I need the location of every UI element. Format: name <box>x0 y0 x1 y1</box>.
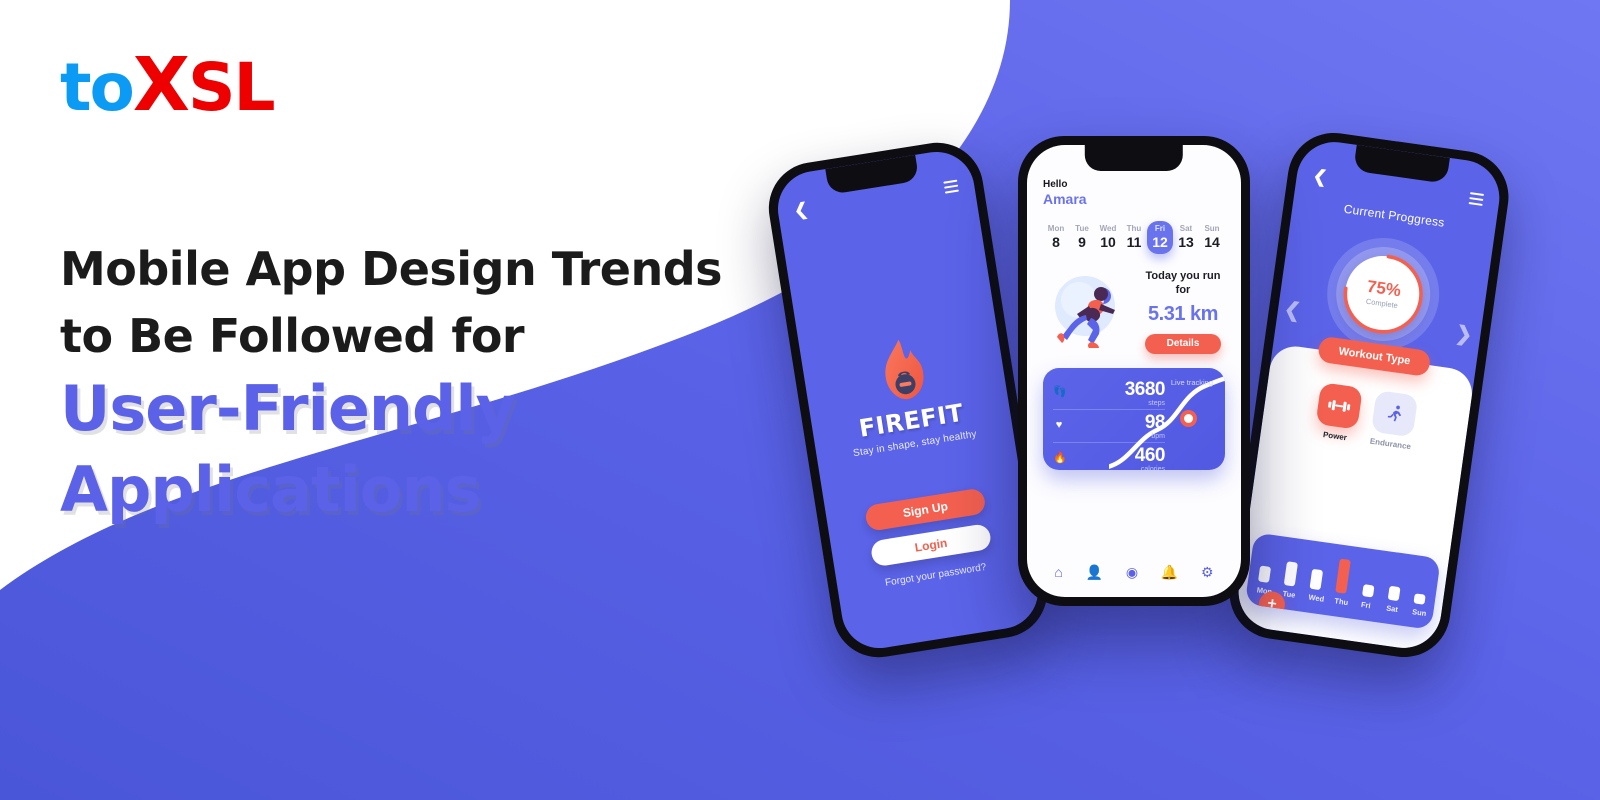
stat-unit: calories <box>1071 466 1165 470</box>
week-day-number: 8 <box>1043 234 1069 250</box>
progress-screen: ❮ Current Proggress ❮ ❯ 75% Complete <box>1234 137 1504 653</box>
week-day-fri[interactable]: Fri12 <box>1147 221 1173 254</box>
week-day-name: Wed <box>1095 224 1121 233</box>
timer-icon[interactable]: ◉ <box>1126 565 1138 579</box>
bell-icon[interactable]: 🔔 <box>1161 565 1178 579</box>
week-day-name: Tue <box>1069 224 1095 233</box>
headline-line-3: User-Friendly <box>60 369 740 450</box>
login-button[interactable]: Login <box>870 523 993 567</box>
chart-bar <box>1362 584 1375 597</box>
logo-text-to: to <box>60 49 133 126</box>
phone-left-screen: ❮ <box>773 146 1044 653</box>
heart-icon: ♥ <box>1053 419 1065 431</box>
workout-sheet: Workout Type <box>1234 343 1476 653</box>
stat-unit: bpm <box>1071 433 1165 440</box>
dumbbell-icon <box>1327 398 1350 413</box>
chevron-left-icon[interactable]: ❮ <box>793 200 810 219</box>
user-name: Amara <box>1043 191 1225 207</box>
firefit-branding: FIREFIT Stay in shape, stay healthy <box>800 322 1013 465</box>
stat-row: ♥98bpm <box>1053 410 1165 443</box>
logo-text-sl: SL <box>188 49 274 126</box>
auth-actions: Sign Up Login Forgot your password? <box>826 481 1035 596</box>
endurance-tile[interactable] <box>1371 390 1418 437</box>
power-label: Power <box>1322 430 1347 442</box>
stat-unit: steps <box>1071 400 1165 407</box>
stat-row: 👣3680steps <box>1053 377 1165 410</box>
week-day-name: Sat <box>1173 224 1199 233</box>
route-marker <box>1180 410 1197 427</box>
flame-kettlebell-icon <box>869 333 939 408</box>
chart-x-label: Sat <box>1386 604 1398 614</box>
details-button[interactable]: Details <box>1145 334 1221 354</box>
stats-card: Live tracking 👣3680steps♥98bpm🔥460calori… <box>1043 368 1225 470</box>
stat-value: 460 <box>1135 445 1165 466</box>
week-day-number: 9 <box>1069 234 1095 250</box>
week-day-name: Sun <box>1199 224 1225 233</box>
chart-x-label: Tue <box>1282 589 1294 599</box>
chart-bar <box>1310 569 1324 590</box>
week-day-thu[interactable]: Thu11 <box>1121 221 1147 254</box>
stat-rows: 👣3680steps♥98bpm🔥460calories <box>1053 377 1165 470</box>
phone-right-progress: ❮ Current Proggress ❮ ❯ 75% Complete <box>1224 127 1515 663</box>
chart-x-label: Fri <box>1360 600 1372 610</box>
chart-bar <box>1258 566 1271 583</box>
phone-center-dashboard: Hello Amara Mon8Tue9Wed10Thu11Fri12Sat13… <box>1018 136 1250 606</box>
ring-arc <box>1332 243 1434 345</box>
week-day-name: Thu <box>1121 224 1147 233</box>
poster-canvas: toXSL Mobile App Design Trends to Be Fol… <box>0 0 1600 800</box>
chart-x-label: Thu <box>1334 596 1346 606</box>
chevron-left-icon[interactable]: ❮ <box>1312 167 1328 186</box>
headline-block: Mobile App Design Trends to Be Followed … <box>60 236 740 531</box>
run-info: Today you run for 5.31 km Details <box>1139 270 1225 354</box>
flame-icon: 🔥 <box>1053 451 1065 464</box>
workout-type-endurance[interactable]: Endurance <box>1369 390 1418 451</box>
hamburger-icon[interactable] <box>1469 192 1485 206</box>
runner-illustration <box>1043 266 1139 358</box>
week-day-wed[interactable]: Wed10 <box>1095 221 1121 254</box>
week-day-name: Mon <box>1043 224 1069 233</box>
bottom-nav[interactable]: ⌂👤◉🔔⚙ <box>1027 565 1241 579</box>
week-day-name: Fri <box>1147 224 1173 233</box>
logo-text-x: X <box>133 42 188 128</box>
week-day-number: 10 <box>1095 234 1121 250</box>
stat-value: 3680 <box>1125 379 1165 400</box>
week-day-mon[interactable]: Mon8 <box>1043 221 1069 254</box>
workout-type-power[interactable]: Power <box>1314 382 1363 443</box>
week-day-number: 11 <box>1121 234 1147 250</box>
phone-right-screen: ❮ Current Proggress ❮ ❯ 75% Complete <box>1234 137 1504 653</box>
run-title: Today you run for <box>1141 270 1225 298</box>
chart-bar <box>1387 586 1400 601</box>
chart-bar <box>1284 561 1298 586</box>
headline-line-4: Applications <box>60 450 740 531</box>
week-day-number: 14 <box>1199 234 1225 250</box>
run-summary: Today you run for 5.31 km Details <box>1043 266 1225 358</box>
logo-toxsl[interactable]: toXSL <box>60 48 274 122</box>
week-day-tue[interactable]: Tue9 <box>1069 221 1095 254</box>
endurance-label: Endurance <box>1369 437 1411 452</box>
week-selector[interactable]: Mon8Tue9Wed10Thu11Fri12Sat13Sun14 <box>1043 221 1225 254</box>
week-day-number: 13 <box>1173 234 1199 250</box>
phone-left-firefit: ❮ <box>762 136 1054 664</box>
phone-center-screen: Hello Amara Mon8Tue9Wed10Thu11Fri12Sat13… <box>1027 145 1241 597</box>
week-day-sat[interactable]: Sat13 <box>1173 221 1199 254</box>
greeting-label: Hello <box>1043 179 1225 190</box>
stat-value: 98 <box>1145 412 1165 433</box>
chart-x-label: Wed <box>1308 593 1320 603</box>
forgot-password-link[interactable]: Forgot your password? <box>884 562 987 589</box>
run-distance: 5.31 km <box>1141 303 1225 326</box>
dashboard: Hello Amara Mon8Tue9Wed10Thu11Fri12Sat13… <box>1027 145 1241 597</box>
stat-row: 🔥460calories <box>1053 443 1165 470</box>
home-icon[interactable]: ⌂ <box>1054 565 1062 579</box>
chart-bar <box>1413 593 1425 604</box>
prev-arrow-icon[interactable]: ❮ <box>1282 296 1302 323</box>
chart-x-label: Sun <box>1412 607 1424 617</box>
hamburger-icon[interactable] <box>943 179 959 193</box>
chart-bar <box>1336 559 1352 594</box>
footsteps-icon: 👣 <box>1053 385 1065 398</box>
weekly-chart-card: MonTueWedThuFriSatSun + <box>1245 532 1441 629</box>
notch <box>1085 145 1183 171</box>
live-tracking-label: Live tracking <box>1171 378 1213 387</box>
gear-icon[interactable]: ⚙ <box>1201 565 1214 579</box>
headline-line-1: Mobile App Design Trends <box>60 236 740 303</box>
profile-icon[interactable]: 👤 <box>1086 565 1103 579</box>
week-day-sun[interactable]: Sun14 <box>1199 221 1225 254</box>
week-day-number: 12 <box>1147 234 1173 250</box>
power-tile[interactable] <box>1315 382 1362 429</box>
headline-line-2: to Be Followed for <box>60 303 740 370</box>
running-icon <box>1383 402 1406 425</box>
workout-type-grid: Power Endurance <box>1261 375 1471 459</box>
next-arrow-icon[interactable]: ❯ <box>1454 321 1474 348</box>
greeting-block: Hello Amara <box>1043 179 1225 207</box>
